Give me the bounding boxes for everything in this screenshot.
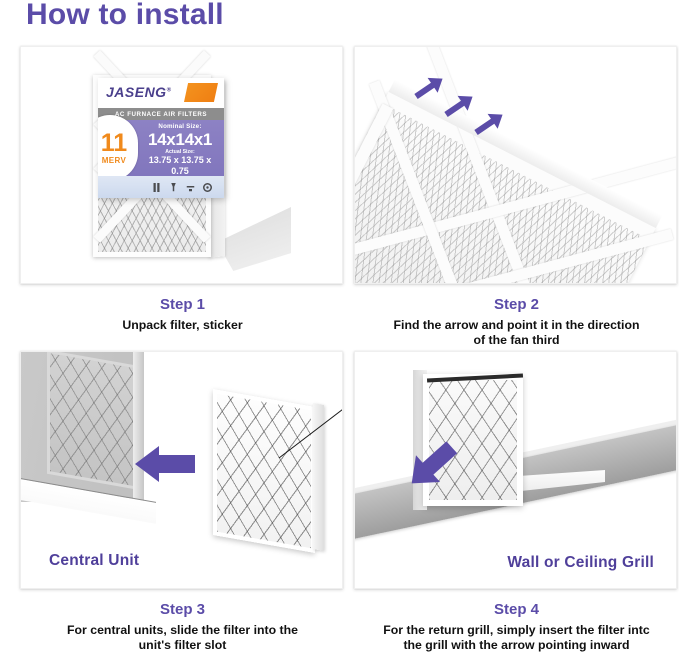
step-1-label: Step 1 — [20, 296, 345, 313]
central-unit-illustration: Central Unit — [21, 352, 342, 588]
brand-orange-mark — [184, 83, 218, 102]
filter-ground-shadow — [217, 207, 291, 271]
label-header: JASENG® — [98, 78, 224, 108]
step-4-column: Wall or Ceiling Grill Step 4 For the ret… — [354, 351, 679, 653]
airflow-direction-illustration — [355, 47, 676, 283]
step-3-column: Central Unit Step 3 For central units, s… — [20, 351, 345, 653]
step-1-description: Unpack filter, sticker — [20, 318, 345, 333]
wall-ceiling-grill-illustration: Wall or Ceiling Grill — [355, 352, 676, 588]
insert-direction-arrow — [133, 444, 195, 484]
step-4-panel: Wall or Ceiling Grill — [354, 351, 677, 589]
central-unit-body — [21, 352, 141, 502]
glass-fork-icon — [169, 182, 178, 193]
step-2-column: Step 2 Find the arrow and point it in th… — [354, 46, 679, 348]
nominal-size-title: Nominal Size: — [140, 123, 220, 130]
size-block: Nominal Size: 14x14x1 Actual Size: 13.75… — [140, 123, 220, 177]
step-1-column: JASENG® AC FURNACE AIR FILTERS 11 MERV N… — [20, 46, 345, 333]
filter-with-label-illustration: JASENG® AC FURNACE AIR FILTERS 11 MERV N… — [21, 47, 342, 283]
page-title: How to install — [26, 0, 224, 32]
step-4-label: Step 4 — [354, 601, 679, 618]
merv-word: MERV — [102, 156, 127, 165]
label-icon-band — [98, 176, 224, 198]
replacement-filter — [213, 389, 315, 553]
airflow-arrow-1 — [411, 71, 448, 104]
airflow-arrow-2 — [441, 89, 478, 122]
step-2-panel — [354, 46, 677, 284]
brand-name: JASENG® — [106, 84, 172, 100]
wall-ceiling-grill-caption: Wall or Ceiling Grill — [507, 554, 654, 572]
product-label-sticker: JASENG® AC FURNACE AIR FILTERS 11 MERV N… — [98, 78, 224, 198]
step-3-label: Step 3 — [20, 601, 345, 618]
step-2-label: Step 2 — [354, 296, 679, 313]
inward-direction-arrow — [403, 438, 459, 494]
actual-size-value: 13.75 x 13.75 x 0.75 — [140, 155, 220, 177]
recycle-icon — [203, 182, 212, 193]
trademark-symbol: ® — [167, 87, 172, 93]
label-size-band: 11 MERV Nominal Size: 14x14x1 Actual Siz… — [98, 120, 224, 176]
central-unit-caption: Central Unit — [49, 552, 139, 570]
brand-text: JASENG — [106, 84, 167, 100]
minus-box-icon — [186, 182, 195, 193]
airflow-arrow-3 — [471, 107, 508, 140]
airflow-arrows-group — [355, 47, 676, 283]
how-to-install-infographic: How to install JASENG® — [0, 0, 679, 656]
step-3-panel: Central Unit — [20, 351, 343, 589]
step-3-description: For central units, slide the filter into… — [20, 623, 345, 653]
step-2-description: Find the arrow and point it in the direc… — [354, 318, 679, 348]
step-4-description: For the return grill, simply insert the … — [354, 623, 679, 653]
nominal-size-value: 14x14x1 — [140, 130, 220, 149]
arrows-vertical-icon — [152, 182, 161, 193]
merv-badge: 11 MERV — [98, 115, 138, 181]
step-1-panel: JASENG® AC FURNACE AIR FILTERS 11 MERV N… — [20, 46, 343, 284]
replacement-filter-side — [313, 403, 324, 551]
installed-filter-face — [47, 351, 141, 490]
merv-value: 11 — [101, 131, 127, 155]
